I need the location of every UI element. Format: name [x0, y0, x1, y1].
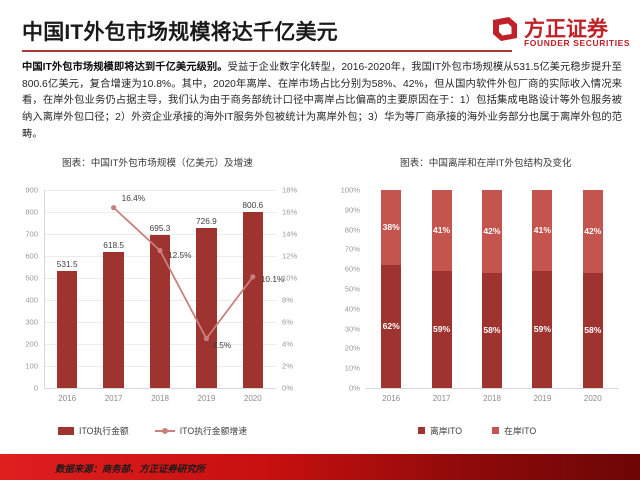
y-axis-tick: 50% [336, 285, 360, 294]
chart-caption-left: 图表：中国IT外包市场规模（亿美元）及增速 [62, 155, 253, 169]
y-axis-tick: 90% [336, 205, 360, 214]
stack-label-onshore: 41% [432, 225, 452, 235]
y-axis-tick: 30% [336, 324, 360, 333]
stack-label-onshore: 42% [482, 226, 502, 236]
y-axis-tick: 40% [336, 304, 360, 313]
x-axis-tick: 2016 [382, 394, 400, 403]
stack-segment-onshore: 41% [532, 190, 552, 271]
growth-line-series [18, 182, 336, 414]
line-value-label: 16.4% [122, 193, 146, 203]
chart-plot-area: 01002003004005006007008009000%2%4%6%8%10… [18, 182, 336, 414]
x-axis-line [366, 388, 618, 389]
slide-footer: 数据来源：商务部、方正证券研究所 [0, 454, 640, 480]
chart-offshore-onshore-structure: 0%10%20%30%40%50%60%70%80%90%100%62%38%2… [336, 182, 628, 414]
legend-label-offshore: 离岸ITO [430, 424, 462, 437]
paragraph-text: 受益于企业数字化转型，2016-2020年，我国IT外包市场规模从531.5亿美… [22, 62, 622, 140]
chart-legend-left: ITO执行金额ITO执行金额增速 [58, 424, 247, 437]
y-axis-tick: 80% [336, 225, 360, 234]
stacked-bar: 59%41% [532, 190, 552, 388]
stacked-bar: 58%42% [583, 190, 603, 388]
line-value-label: 4.5% [212, 340, 231, 350]
x-axis-tick: 2017 [433, 394, 451, 403]
stack-segment-offshore: 62% [381, 265, 401, 388]
legend-swatch-offshore [418, 427, 425, 434]
chart-caption-right: 图表：中国离岸和在岸IT外包结构及变化 [400, 155, 572, 169]
x-axis-tick: 2020 [584, 394, 602, 403]
stack-label-onshore: 38% [381, 222, 401, 232]
stack-label-offshore: 58% [583, 325, 603, 335]
stack-segment-offshore: 59% [432, 271, 452, 388]
stack-label-offshore: 59% [432, 324, 452, 334]
legend-swatch-bar [58, 427, 74, 435]
stacked-bar: 62%38% [381, 190, 401, 388]
y-axis-tick: 0% [336, 384, 360, 393]
source-text: 数据来源：商务部、方正证券研究所 [55, 461, 205, 475]
stack-label-offshore: 62% [381, 321, 401, 331]
y-axis-tick: 60% [336, 265, 360, 274]
stack-segment-onshore: 42% [482, 190, 502, 273]
company-logo: 方正证券 FOUNDER SECURITIES [482, 14, 632, 56]
stack-label-offshore: 58% [482, 325, 502, 335]
y-axis-tick: 70% [336, 245, 360, 254]
y-axis-line [44, 190, 45, 388]
stack-label-onshore: 42% [583, 226, 603, 236]
chart-it-outsourcing-scale: 01002003004005006007008009000%2%4%6%8%10… [18, 182, 336, 414]
stack-segment-onshore: 42% [583, 190, 603, 273]
stack-segment-onshore: 41% [432, 190, 452, 271]
stack-segment-onshore: 38% [381, 190, 401, 265]
stack-segment-offshore: 58% [482, 273, 502, 388]
logo-text-en: FOUNDER SECURITIES [524, 38, 630, 48]
legend-label-line: ITO执行金额增速 [180, 424, 247, 437]
stacked-bar: 59%41% [432, 190, 452, 388]
slide-header: 中国IT外包市场规模将达千亿美元 方正证券 FOUNDER SECURITIES [0, 0, 640, 58]
x-axis-line [44, 388, 276, 389]
chart-legend-right: 离岸ITO在岸ITO [418, 424, 536, 437]
stack-segment-offshore: 59% [532, 271, 552, 388]
stacked-bar: 58%42% [482, 190, 502, 388]
legend-label-bar: ITO执行金额 [79, 424, 129, 437]
x-axis-tick: 2018 [483, 394, 501, 403]
legend-swatch-line [155, 427, 175, 435]
line-value-label: 12.5% [168, 250, 192, 260]
paragraph-lead: 中国IT外包市场规模即将达到千亿美元级别。 [22, 62, 228, 73]
line-value-label: 10.1% [261, 274, 285, 284]
page-title: 中国IT外包市场规模将达千亿美元 [22, 16, 338, 46]
stack-label-offshore: 59% [532, 324, 552, 334]
chart-plot-area: 0%10%20%30%40%50%60%70%80%90%100%62%38%2… [336, 182, 628, 414]
y-axis-tick: 20% [336, 344, 360, 353]
stack-label-onshore: 41% [532, 225, 552, 235]
legend-label-onshore: 在岸ITO [504, 424, 536, 437]
stack-segment-offshore: 58% [583, 273, 603, 388]
founder-logo-icon [492, 16, 518, 42]
legend-swatch-onshore [492, 427, 499, 434]
y-axis-tick: 100% [336, 186, 360, 195]
body-paragraph: 中国IT外包市场规模即将达到千亿美元级别。受益于企业数字化转型，2016-202… [22, 60, 622, 143]
x-axis-tick: 2019 [533, 394, 551, 403]
y-axis-tick: 10% [336, 364, 360, 373]
title-underline [22, 50, 512, 52]
